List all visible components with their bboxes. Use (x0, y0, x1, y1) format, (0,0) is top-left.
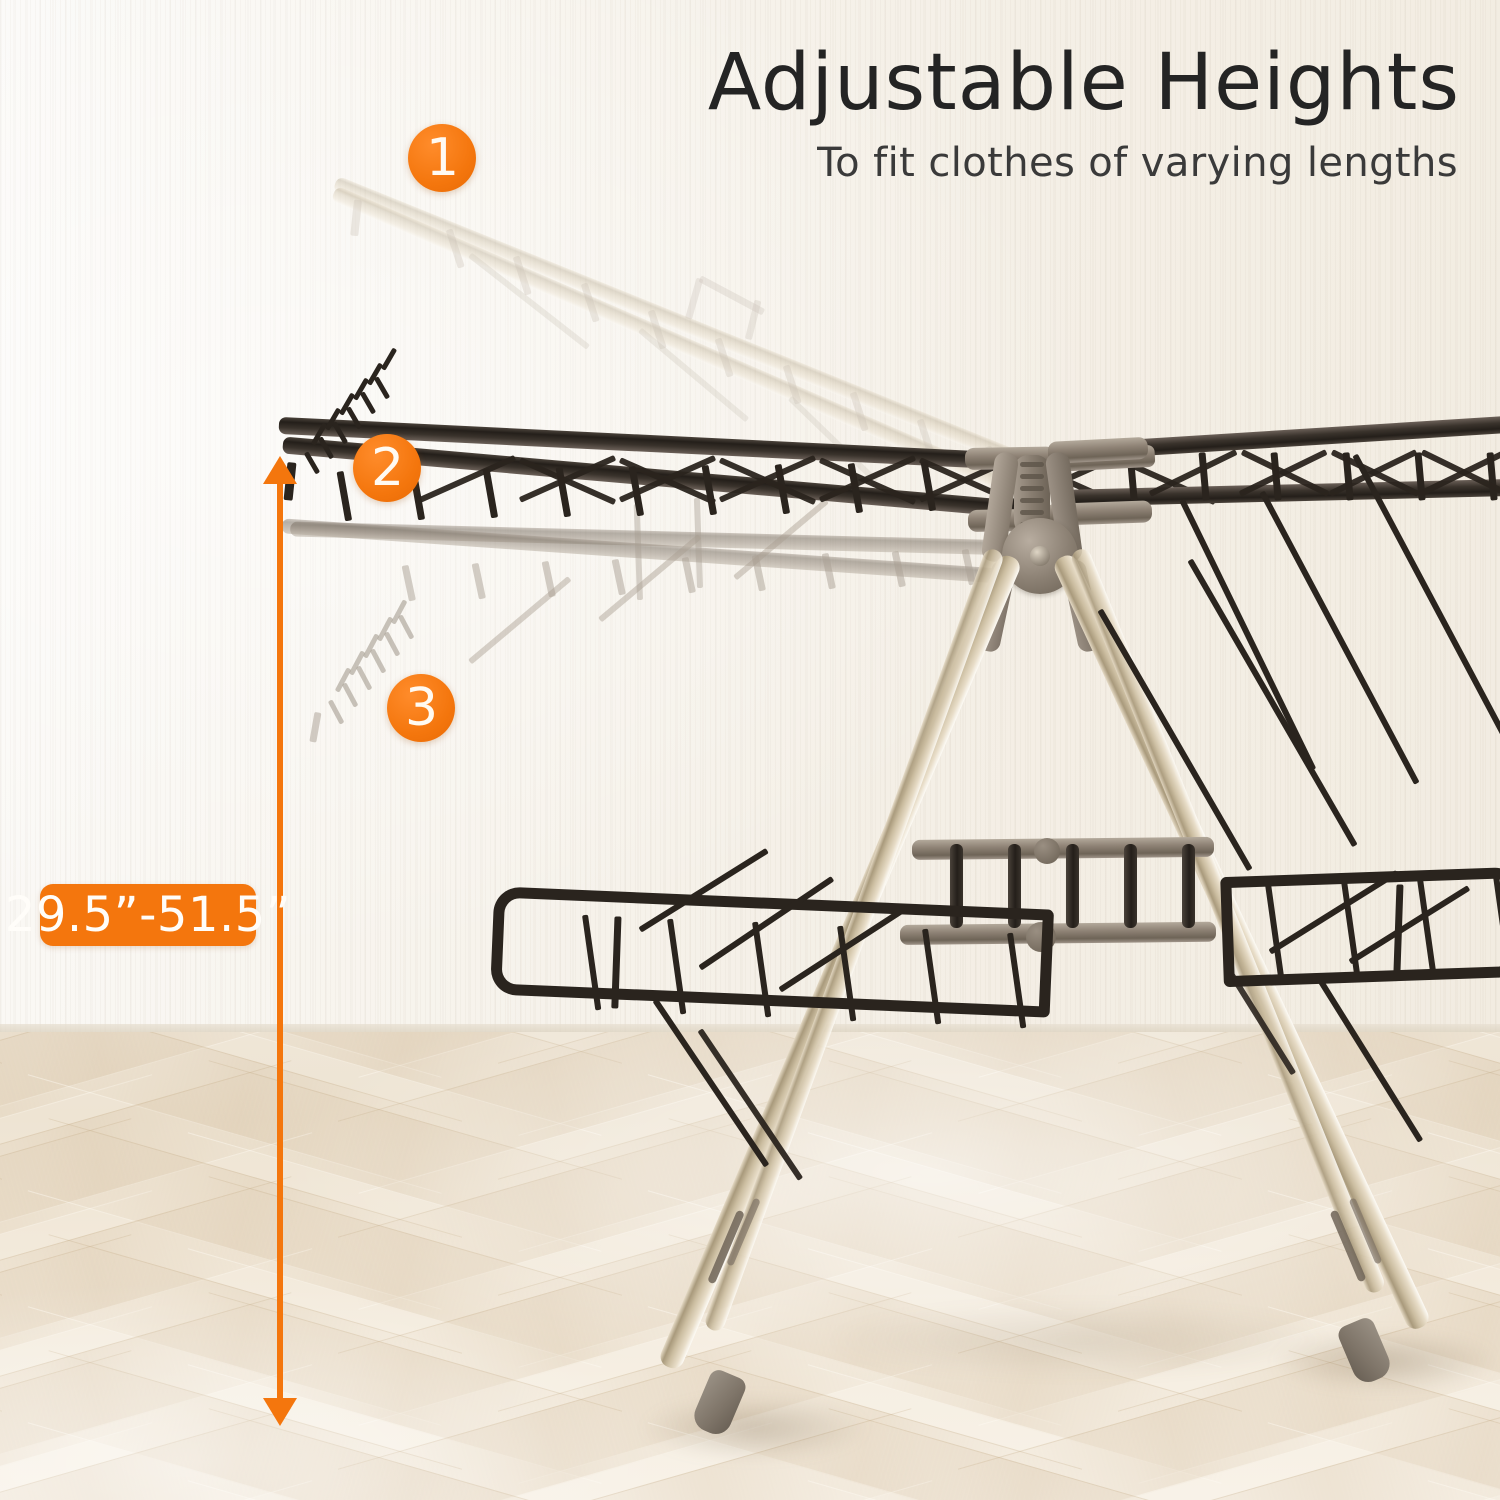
hinge-ratchet-tooth (1020, 474, 1044, 479)
page-subtitle: To fit clothes of varying lengths (817, 140, 1458, 186)
hinge-ratchet-tooth (1020, 462, 1044, 467)
hinge-ratchet-tooth (1020, 498, 1044, 503)
callout-badge-3: 3 (387, 674, 455, 742)
page-title: Adjustable Heights (708, 38, 1460, 128)
shadow-left-leg (640, 1395, 870, 1461)
shoe-rack-divider (1124, 844, 1137, 928)
callout-badge-1: 1 (408, 124, 476, 192)
hinge-ratchet-tooth (1020, 510, 1044, 515)
callout-badge-2: 2 (353, 434, 421, 502)
dimension-arrow-head-bottom (263, 1398, 297, 1426)
dimension-badge: 29.5”-51.5” (40, 884, 256, 946)
shoe-rack-divider (1182, 844, 1195, 928)
shoe-rack-knob-upper (1034, 838, 1060, 864)
dimension-arrow-head-top (263, 456, 297, 484)
lower-tier-right-frame (1220, 867, 1500, 987)
shadow-center (820, 1300, 1340, 1380)
hinge-ratchet-tooth (1020, 486, 1044, 491)
hinge-hub-bolt (1030, 546, 1050, 566)
shoe-rack-divider (1066, 844, 1079, 928)
product-feature-image: Adjustable Heights To fit clothes of var… (0, 0, 1500, 1500)
